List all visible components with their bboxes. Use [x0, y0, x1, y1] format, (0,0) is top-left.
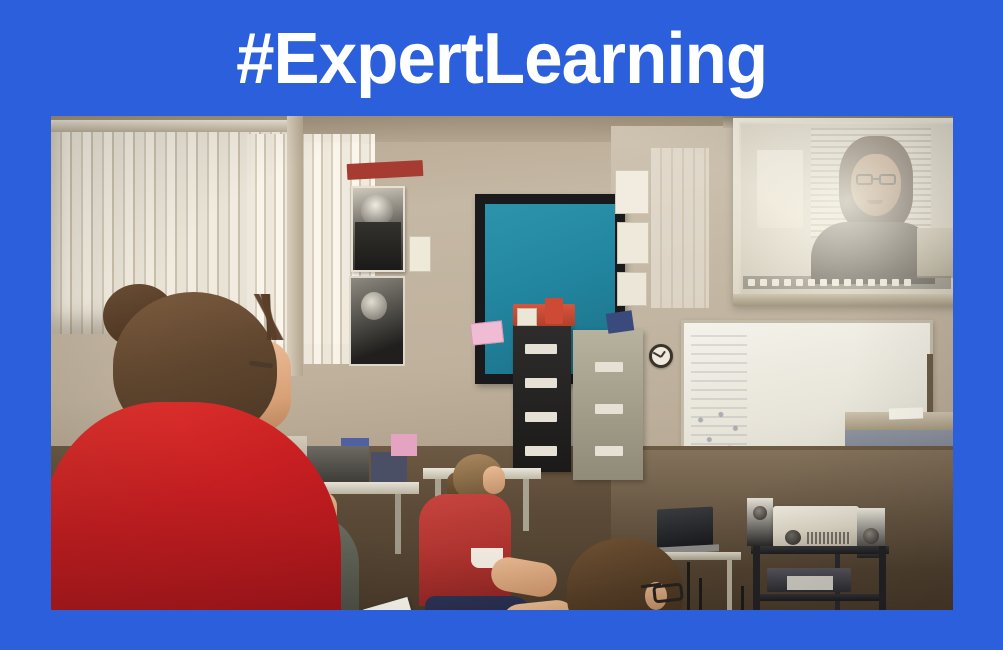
wall-notice-2 — [617, 222, 649, 264]
einstein-poster-body — [355, 222, 401, 270]
desk-leg — [523, 479, 529, 531]
cabinet-label — [595, 404, 623, 414]
vertical-blinds-far — [651, 148, 709, 308]
cabinet-label — [525, 446, 557, 456]
laptop-screen — [657, 507, 713, 550]
counter-paper — [889, 407, 923, 419]
av-equipment-panel — [787, 576, 833, 590]
cart-leg — [879, 546, 886, 610]
av-cart-top-shelf — [751, 546, 889, 554]
classroom-photo: EINSTEIN — [51, 116, 953, 610]
cabinet-top-item — [606, 310, 635, 333]
wall-notice-3 — [617, 272, 647, 306]
wall-notice-1 — [615, 170, 649, 214]
bulletin-board-note-pink — [470, 320, 504, 345]
einstein-poster-bottom-face — [361, 292, 387, 320]
wall-note — [409, 236, 431, 272]
cabinet-label — [595, 362, 623, 372]
cabinet-label — [525, 344, 557, 354]
cabinet-label — [525, 412, 557, 422]
desk-item-pink — [391, 434, 417, 456]
projection-screen-bottom-bar — [733, 294, 953, 306]
student-foreground-hair-tuft — [211, 294, 325, 340]
cabinet-top-box — [545, 298, 563, 324]
student-fourth-glasses — [652, 582, 684, 603]
banner-title-bar: #ExpertLearning — [0, 0, 1003, 116]
einstein-poster-bottom — [349, 276, 405, 366]
projector-lens — [785, 530, 801, 545]
counter-support — [927, 354, 933, 416]
cabinet-label — [595, 446, 623, 456]
projector-vent — [807, 532, 851, 544]
page-title: #ExpertLearning — [236, 23, 767, 95]
blinds-rail — [51, 120, 301, 132]
desk-leg — [395, 494, 401, 554]
student-third-face — [483, 466, 505, 494]
speaker-right-cone — [863, 528, 879, 544]
av-cart-lower-shelf — [755, 594, 885, 601]
projection-light-glow — [739, 122, 953, 298]
cabinet-top-paper — [517, 308, 537, 326]
cabinet-label — [525, 378, 557, 388]
power-cable — [699, 578, 733, 610]
poster-stage: #ExpertLearning EINSTEIN — [0, 0, 1003, 650]
power-cable — [741, 586, 765, 610]
speaker-left-cone — [753, 506, 767, 520]
desk-item-dark — [371, 452, 407, 482]
